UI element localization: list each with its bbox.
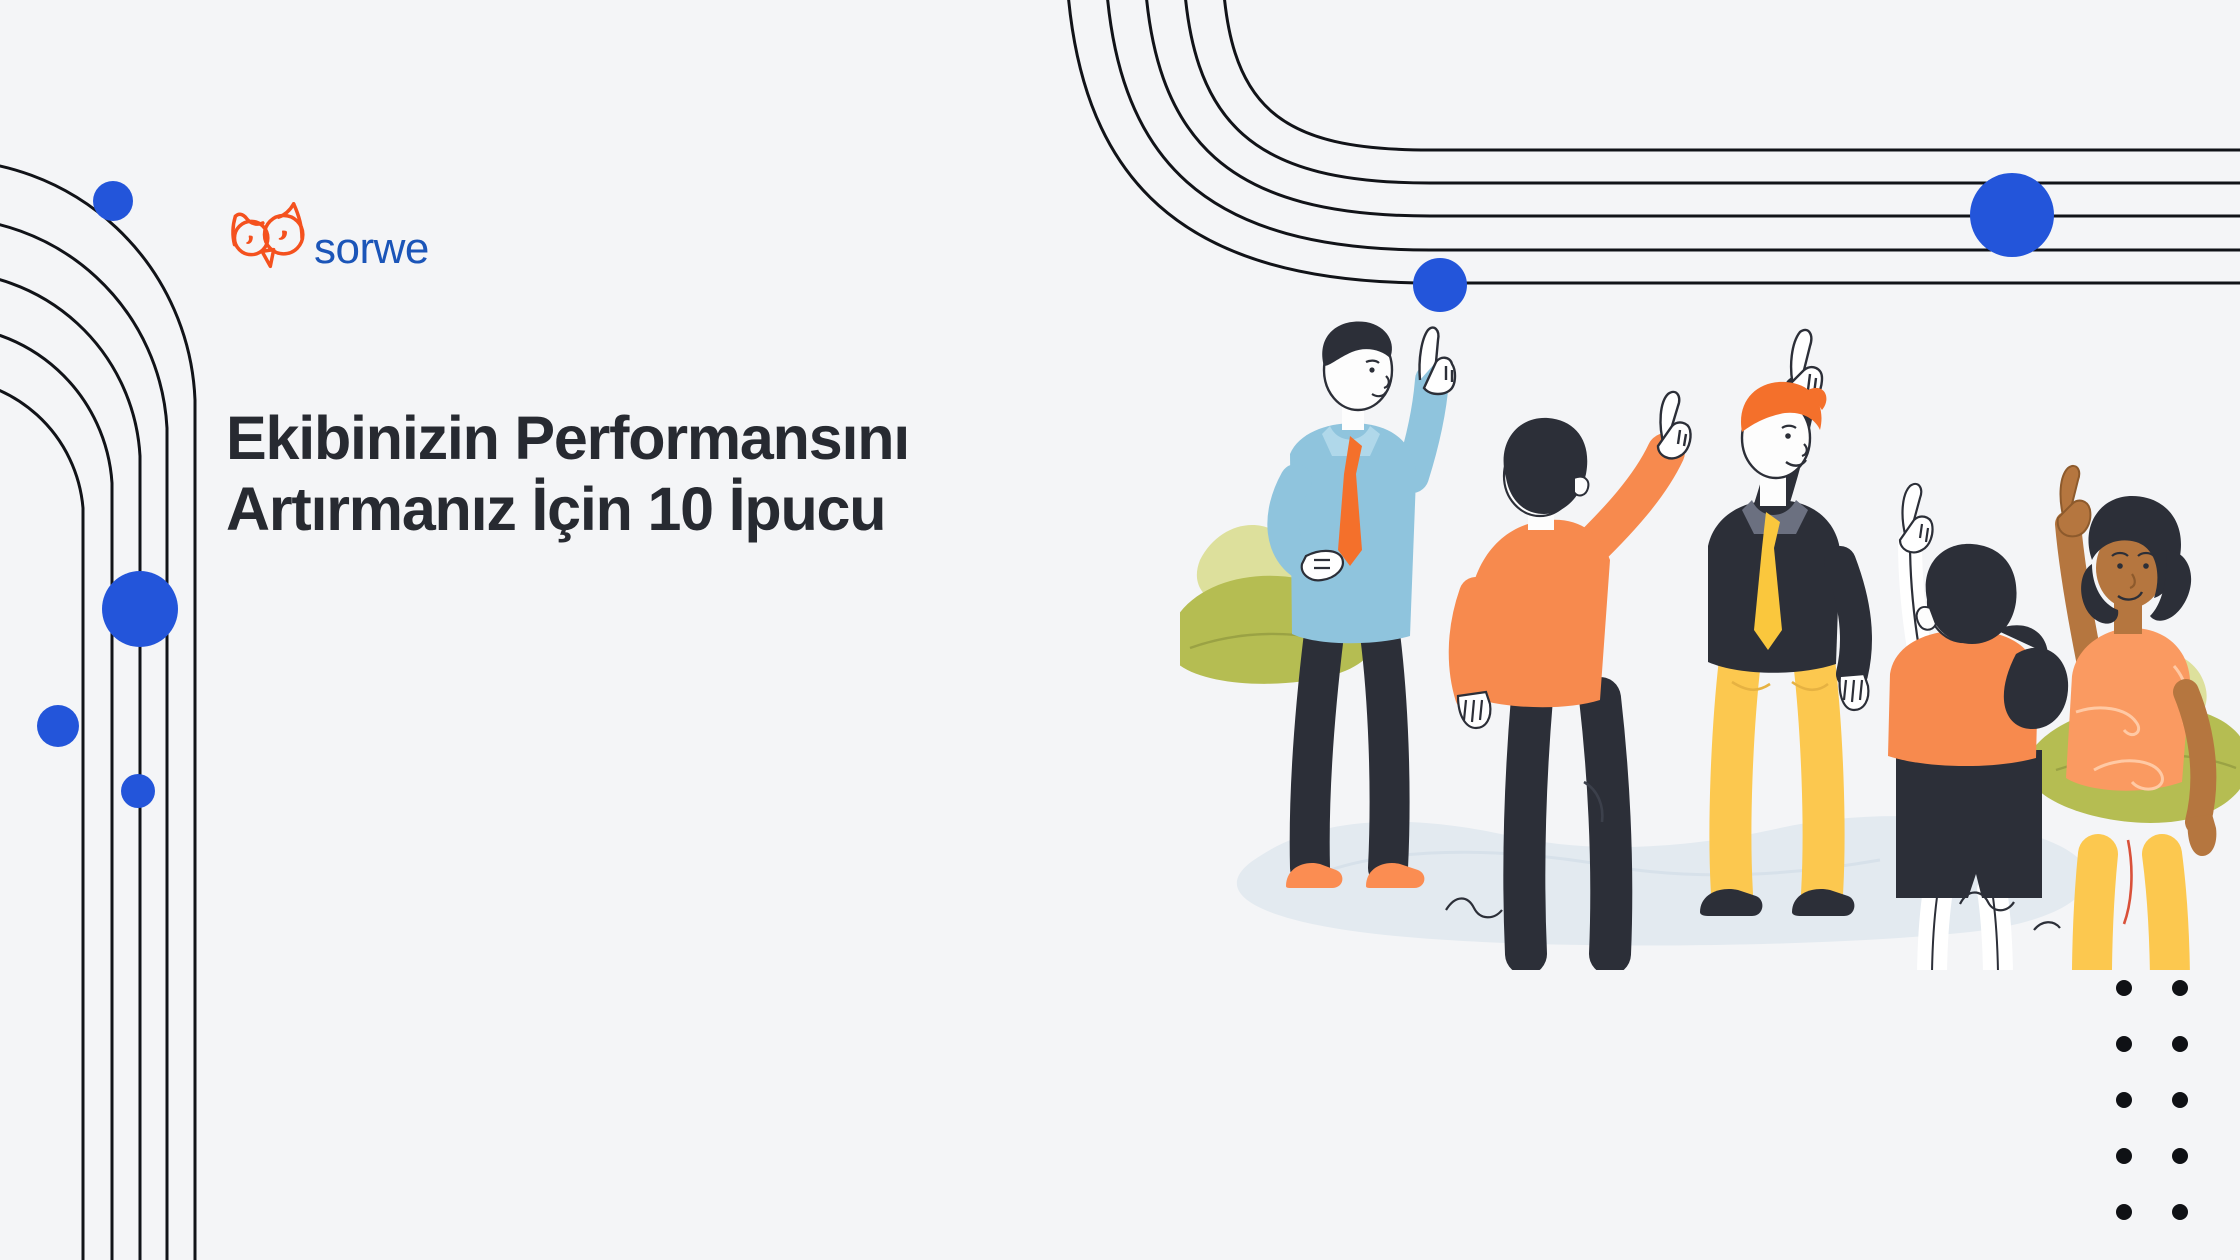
owl-icon [222, 198, 322, 278]
grid-dot [2172, 1092, 2188, 1108]
tr-arc-line-4 [1105, 0, 2240, 250]
blog-cover-banner: sorwe Ekibinizin Performansını Artırmanı… [0, 0, 2240, 1260]
tr-arc-line-3 [1144, 0, 2240, 216]
accent-dot-left-small [37, 705, 79, 747]
accent-dot-left-tiny [121, 774, 155, 808]
team-cheering-illustration [1180, 230, 2240, 970]
tr-arc-line-2 [1183, 0, 2240, 183]
arc-line-2 [0, 218, 167, 1260]
arc-line-5 [0, 378, 83, 1260]
grid-dot [2172, 1036, 2188, 1052]
grid-dot [2172, 1204, 2188, 1220]
grid-dot [2116, 980, 2132, 996]
arc-line-1 [0, 160, 195, 1260]
person-blue-shirt [1283, 321, 1455, 888]
grid-dot [2172, 1148, 2188, 1164]
grid-dot [2116, 1036, 2132, 1052]
accent-dot-left-large [102, 571, 178, 647]
sorwe-logo[interactable]: sorwe [222, 188, 522, 278]
page-title: Ekibinizin Performansını Artırmanız İçin… [226, 403, 1176, 546]
person-curly-hair [2058, 466, 2217, 970]
arc-line-4 [0, 326, 112, 1260]
grid-dot [2116, 1092, 2132, 1108]
grid-dot [2116, 1148, 2132, 1164]
arc-line-3 [0, 272, 140, 1260]
accent-dot-left-top [93, 181, 133, 221]
logo-wordmark: sorwe [314, 227, 429, 271]
tr-arc-line-1 [1222, 0, 2240, 150]
person-ponytail [1888, 484, 2068, 970]
grid-dot [2116, 1204, 2132, 1220]
grid-dot [2172, 980, 2188, 996]
